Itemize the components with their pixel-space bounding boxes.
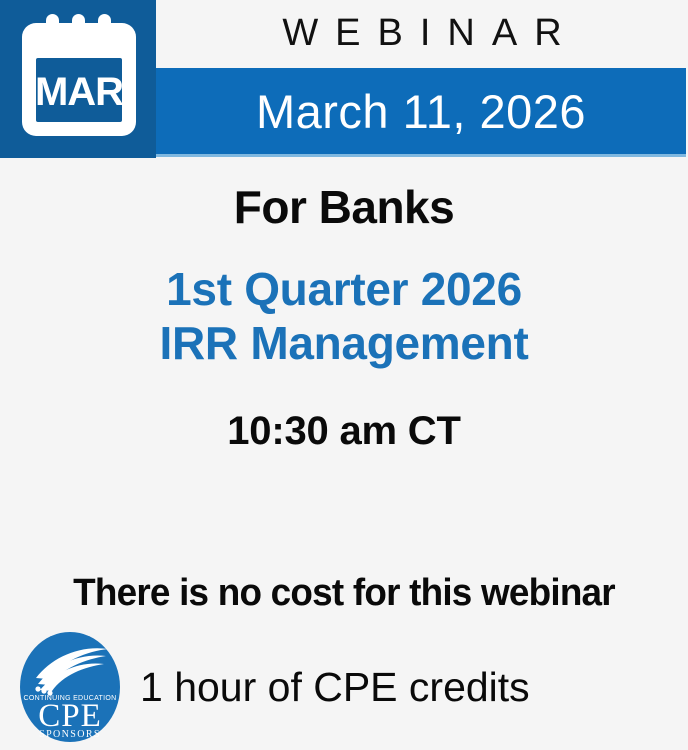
date-bar: March 11, 2026 [156, 68, 686, 154]
cpe-logo-secondary-label: SPONSORS [39, 729, 101, 740]
cpe-credits-label: 1 hour of CPE credits [140, 667, 530, 708]
webinar-title: 1st Quarter 2026 IRR Management [0, 262, 688, 371]
cpe-credits-row: CONTINUING EDUCATION CPE SPONSORS 1 hour… [0, 628, 688, 746]
header: MAR MAR WEBINAR March 11, 2026 [0, 0, 688, 158]
webinar-date-label: March 11, 2026 [256, 88, 586, 135]
webinar-title-line-2: IRR Management [0, 316, 688, 370]
cpe-sponsors-logo-icon: CONTINUING EDUCATION CPE SPONSORS [18, 631, 122, 743]
date-bar-underline [156, 154, 686, 157]
body: For Banks 1st Quarter 2026 IRR Managemen… [0, 158, 688, 750]
cost-note-label: There is no cost for this webinar [10, 574, 677, 612]
webinar-title-line-1: 1st Quarter 2026 [0, 262, 688, 316]
audience-label: For Banks [0, 184, 688, 230]
webinar-promo-card: MAR MAR WEBINAR March 11, 2026 For Banks… [0, 0, 688, 750]
calendar-icon: MAR [20, 14, 138, 138]
webinar-eyebrow-strip: WEBINAR [156, 0, 688, 66]
webinar-time-label: 10:30 am CT [0, 411, 688, 451]
calendar-badge: MAR MAR [0, 0, 156, 158]
webinar-eyebrow-label: WEBINAR [265, 14, 578, 52]
calendar-month-label: MAR [35, 70, 124, 114]
